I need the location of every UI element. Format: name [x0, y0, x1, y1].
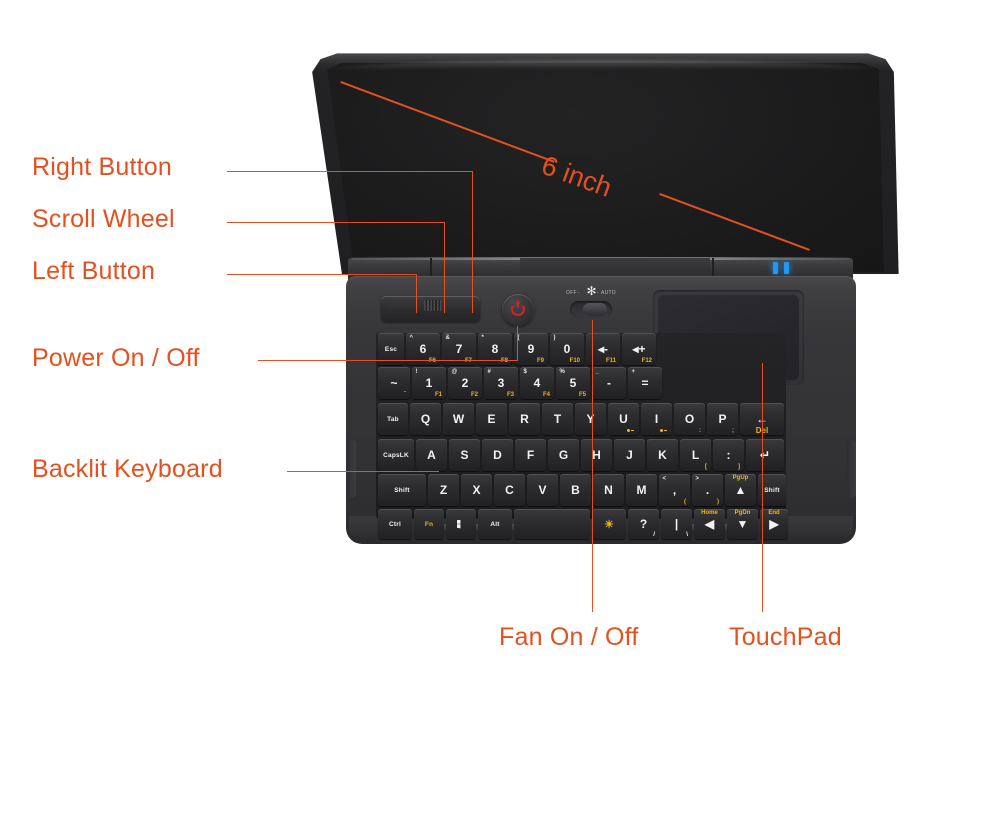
- key-right-arrow-fn-legend: End: [760, 510, 788, 516]
- fan-switch-knob[interactable]: [583, 303, 607, 316]
- key-semicolon-fn-legend: ]: [738, 464, 740, 470]
- key-2-fn-legend: F2: [471, 392, 478, 398]
- key-7-shift-legend: &: [446, 335, 450, 341]
- key-u-numpad-marker-icon: [627, 429, 634, 432]
- key-7-legend: 7: [456, 343, 463, 355]
- key-j[interactable]: J: [614, 439, 645, 471]
- key-capslock-legend: CapsLK: [383, 452, 409, 459]
- key-1-legend: 1: [426, 377, 433, 389]
- key-o-legend: O: [685, 413, 694, 425]
- callout-touchpad: TouchPad: [729, 625, 842, 650]
- key-left-arrow-fn-legend: Home: [694, 510, 725, 516]
- leader-power-vertical: [517, 326, 518, 360]
- keyboard-row-bottom-row: CtrlFnAlt☀?/|\◀Home▼PgDn▶End: [376, 509, 788, 539]
- key-0[interactable]: 0)F10: [550, 333, 584, 365]
- key-h[interactable]: H: [581, 439, 612, 471]
- led-indicator-storage: [784, 262, 789, 274]
- key-right-arrow-legend: ▶: [769, 518, 778, 530]
- callout-left-button: Left Button: [32, 259, 155, 284]
- key-e[interactable]: E: [476, 403, 507, 435]
- key-tab[interactable]: Tab: [378, 403, 408, 435]
- key-0-legend: 0: [564, 343, 571, 355]
- key-v[interactable]: V: [527, 474, 558, 506]
- leader-scroll-wheel-horizontal: [227, 222, 445, 223]
- key-b-legend: B: [571, 484, 580, 496]
- key-a[interactable]: A: [416, 439, 447, 471]
- key-fn[interactable]: Fn: [414, 509, 444, 539]
- key-l[interactable]: L[: [680, 439, 711, 471]
- leader-keyboard-horizontal: [287, 471, 439, 472]
- callout-backlit-keyboard: Backlit Keyboard: [32, 457, 223, 482]
- key-o[interactable]: O:: [674, 403, 705, 435]
- fan-switch-auto-arrow: -: [597, 290, 599, 296]
- key-l-fn-legend: [: [705, 464, 707, 470]
- key-backslash-legend: |: [675, 518, 678, 530]
- key-g[interactable]: G: [548, 439, 579, 471]
- key-minus-legend: -: [607, 377, 611, 389]
- key-s[interactable]: S: [449, 439, 480, 471]
- key-4-fn-legend: F4: [543, 392, 550, 398]
- key-slash-alt-legend: /: [653, 531, 655, 538]
- key-up-arrow[interactable]: ▲PgUp: [725, 474, 756, 506]
- keyboard-row-home-row: CapsLKASDFGHJKL[:]↵: [376, 439, 784, 471]
- key-0-fn-legend: F10: [570, 358, 580, 364]
- key-volume-up-legend: ◂+: [632, 343, 645, 355]
- key-s-legend: S: [460, 449, 468, 461]
- key-up-arrow-legend: ▲: [735, 484, 747, 496]
- key-windows[interactable]: [446, 509, 476, 539]
- key-w[interactable]: W: [443, 403, 474, 435]
- key-t[interactable]: T: [542, 403, 573, 435]
- windows-icon: [457, 520, 466, 529]
- callout-right-button: Right Button: [32, 155, 172, 180]
- key-k[interactable]: K: [647, 439, 678, 471]
- key-alt-legend: Alt: [490, 521, 499, 528]
- key-i-numpad-marker-icon: [660, 429, 667, 432]
- key-equal-shift-legend: +: [632, 369, 636, 375]
- key-c[interactable]: C: [494, 474, 525, 506]
- key-comma-shift-legend: <: [663, 476, 667, 482]
- key-down-arrow[interactable]: ▼PgDn: [727, 509, 758, 539]
- key-backslash[interactable]: |\: [661, 509, 692, 539]
- key-volume-up-fn-legend: F12: [642, 358, 652, 364]
- key-m-legend: M: [637, 484, 647, 496]
- key-minus[interactable]: -_: [592, 367, 626, 399]
- key-8-legend: 8: [492, 343, 499, 355]
- key-z-legend: Z: [440, 484, 447, 496]
- diagram-canvas: 6 inch OFF - ✻ - AUTO Esc6^F67&F78*F89(F…: [0, 0, 1000, 828]
- key-enter[interactable]: ↵: [746, 439, 784, 471]
- side-grip-left: [347, 440, 356, 498]
- key-left-arrow[interactable]: ◀Home: [694, 509, 725, 539]
- key-w-legend: W: [453, 413, 464, 425]
- fan-switch-off-arrow: -: [578, 290, 580, 296]
- key-j-legend: J: [626, 449, 633, 461]
- key-f-legend: F: [527, 449, 534, 461]
- key-f[interactable]: F: [515, 439, 546, 471]
- key-h-legend: H: [592, 449, 601, 461]
- key-volume-down-fn-legend: F11: [606, 358, 616, 364]
- key-backlight[interactable]: ☀: [592, 509, 626, 539]
- key-t-legend: T: [554, 413, 561, 425]
- key-space[interactable]: [514, 509, 590, 539]
- key-5-shift-legend: %: [560, 369, 565, 375]
- key-capslock[interactable]: CapsLK: [378, 439, 414, 471]
- key-alt[interactable]: Alt: [478, 509, 512, 539]
- key-minus-shift-legend: _: [596, 369, 599, 375]
- key-4[interactable]: 4$F4: [520, 367, 554, 399]
- key-period-legend: .: [706, 484, 709, 496]
- callout-scroll-wheel: Scroll Wheel: [32, 207, 175, 232]
- key-shift-left-legend: Shift: [394, 487, 409, 494]
- key-3-legend: 3: [498, 377, 505, 389]
- key-9-fn-legend: F9: [537, 358, 544, 364]
- key-4-legend: 4: [534, 377, 541, 389]
- key-2-legend: 2: [462, 377, 469, 389]
- key-p-fn-legend: ;: [732, 428, 734, 434]
- key-2-shift-legend: @: [452, 369, 458, 375]
- key-1-fn-legend: F1: [435, 392, 442, 398]
- key-r[interactable]: R: [509, 403, 540, 435]
- key-4-shift-legend: $: [524, 369, 527, 375]
- key-up-arrow-fn-legend: PgUp: [725, 475, 756, 481]
- key-n-legend: N: [604, 484, 613, 496]
- key-tab-legend: Tab: [387, 416, 399, 423]
- key-period-shift-legend: >: [696, 476, 700, 482]
- leader-left-button-horizontal: [227, 274, 417, 275]
- key-9[interactable]: 9(F9: [514, 333, 548, 365]
- callout-power-on-off: Power On / Off: [32, 346, 200, 371]
- leader-right-button-horizontal: [227, 171, 473, 172]
- key-l-legend: L: [692, 449, 699, 461]
- key-z[interactable]: Z: [428, 474, 459, 506]
- key-6-shift-legend: ^: [410, 335, 414, 341]
- key-slash[interactable]: ?/: [628, 509, 659, 539]
- led-indicator-power: [773, 262, 778, 274]
- key-5-fn-legend: F5: [579, 392, 586, 398]
- key-fn-legend: Fn: [425, 521, 433, 528]
- scroll-wheel[interactable]: [424, 300, 442, 311]
- key-x[interactable]: X: [461, 474, 492, 506]
- key-period[interactable]: .>): [692, 474, 723, 506]
- key-e-legend: E: [487, 413, 495, 425]
- leader-left-button-vertical: [416, 274, 417, 313]
- key-k-legend: K: [658, 449, 667, 461]
- key-r-legend: R: [520, 413, 529, 425]
- key-comma-legend: ,: [673, 484, 676, 496]
- key-c-legend: C: [505, 484, 514, 496]
- key-q[interactable]: Q: [410, 403, 441, 435]
- key-5-legend: 5: [570, 377, 577, 389]
- key-u-legend: U: [619, 413, 628, 425]
- key-n[interactable]: N: [593, 474, 624, 506]
- key-slash-legend: ?: [640, 518, 647, 530]
- key-semicolon-legend: :: [727, 449, 731, 461]
- fan-switch-off-label: OFF: [566, 290, 577, 296]
- key-p-legend: P: [718, 413, 726, 425]
- key-6-legend: 6: [420, 343, 427, 355]
- key-v-legend: V: [538, 484, 546, 496]
- key-down-arrow-fn-legend: PgDn: [727, 510, 758, 516]
- key-x-legend: X: [472, 484, 480, 496]
- key-comma[interactable]: ,<(: [659, 474, 690, 506]
- key-d[interactable]: D: [482, 439, 513, 471]
- key-m[interactable]: M: [626, 474, 657, 506]
- key-right-arrow[interactable]: ▶End: [760, 509, 788, 539]
- display-screen: [318, 63, 888, 272]
- key-3[interactable]: 3#F3: [484, 367, 518, 399]
- key-comma-fn-legend: (: [684, 499, 686, 505]
- key-volume-up[interactable]: ◂+F12: [622, 333, 656, 365]
- key-o-fn-legend: :: [699, 428, 701, 434]
- key-a-legend: A: [427, 449, 436, 461]
- keyboard-row-qwerty-row: TabQWERTYUIO:P;←Del: [376, 403, 784, 435]
- keyboard-row-number-row: ~`1!F12@F23#F34$F45%F5-_=+: [376, 367, 662, 399]
- leader-scroll-wheel-vertical: [444, 222, 445, 313]
- key-esc-legend: Esc: [385, 346, 397, 353]
- key-i-legend: I: [655, 413, 658, 425]
- key-tilde-alt-legend: `: [404, 391, 406, 398]
- key-semicolon[interactable]: :]: [713, 439, 744, 471]
- backlight-icon: ☀: [604, 518, 614, 531]
- key-5[interactable]: 5%F5: [556, 367, 590, 399]
- side-grip-right: [847, 440, 856, 498]
- fan-icon: ✻: [586, 286, 597, 297]
- key-b[interactable]: B: [560, 474, 591, 506]
- key-3-fn-legend: F3: [507, 392, 514, 398]
- key-2[interactable]: 2@F2: [448, 367, 482, 399]
- key-1-shift-legend: !: [416, 369, 418, 375]
- leader-power-horizontal: [258, 360, 518, 361]
- keyboard-row-shift-row: ShiftZXCVBNM,<(.>)▲PgUpShift: [376, 474, 786, 506]
- fan-switch-auto-label: AUTO: [601, 290, 616, 296]
- key-backslash-alt-legend: \: [686, 531, 688, 538]
- callout-fan-on-off: Fan On / Off: [499, 625, 639, 650]
- key-left-arrow-legend: ◀: [705, 518, 714, 530]
- key-p[interactable]: P;: [707, 403, 738, 435]
- key-8-shift-legend: *: [482, 335, 484, 341]
- key-ctrl[interactable]: Ctrl: [378, 509, 412, 539]
- key-tilde-legend: ~: [390, 377, 397, 389]
- key-0-shift-legend: ): [554, 335, 556, 341]
- key-period-fn-legend: ): [717, 499, 719, 505]
- leader-right-button-vertical: [472, 171, 473, 313]
- key-g-legend: G: [559, 449, 568, 461]
- leader-fan-vertical: [592, 320, 593, 612]
- key-equal-legend: =: [641, 377, 648, 389]
- key-y[interactable]: Y: [575, 403, 606, 435]
- key-q-legend: Q: [421, 413, 430, 425]
- key-u[interactable]: U: [608, 403, 639, 435]
- key-9-legend: 9: [528, 343, 535, 355]
- key-volume-down-legend: ◂-: [598, 343, 608, 355]
- leader-touchpad-vertical: [762, 363, 763, 612]
- key-i[interactable]: I: [641, 403, 672, 435]
- key-shift-left[interactable]: Shift: [378, 474, 426, 506]
- key-ctrl-legend: Ctrl: [389, 521, 401, 528]
- key-d-legend: D: [493, 449, 502, 461]
- key-down-arrow-legend: ▼: [737, 518, 749, 530]
- key-equal[interactable]: =+: [628, 367, 662, 399]
- key-tilde[interactable]: ~`: [378, 367, 410, 399]
- key-3-shift-legend: #: [488, 369, 491, 375]
- power-icon-stem: [517, 300, 519, 308]
- key-shift-right-legend: Shift: [764, 487, 779, 494]
- key-1[interactable]: 1!F1: [412, 367, 446, 399]
